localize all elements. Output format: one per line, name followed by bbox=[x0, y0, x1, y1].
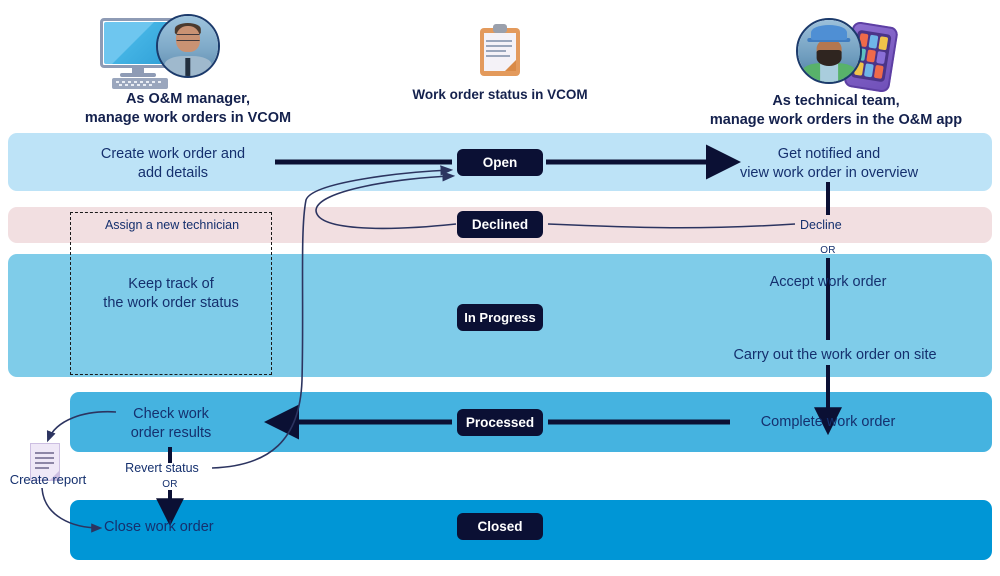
status-badge-in-progress[interactable]: In Progress bbox=[457, 304, 543, 331]
label-decline: Decline bbox=[800, 217, 900, 233]
step-accept-work-order: Accept work order bbox=[728, 273, 928, 292]
step-keep-track: Keep track of the work order status bbox=[68, 275, 274, 313]
step-complete-work-order: Complete work order bbox=[728, 413, 928, 432]
step-assign-technician: Assign a new technician bbox=[74, 217, 270, 233]
status-badge-declined-label: Declined bbox=[472, 217, 528, 232]
step-create-work-order: Create work order and add details bbox=[68, 145, 278, 183]
technician-photo-avatar bbox=[796, 18, 862, 84]
status-badge-processed-label: Processed bbox=[466, 415, 534, 430]
label-decline-or: OR bbox=[806, 244, 850, 257]
status-badge-declined[interactable]: Declined bbox=[457, 211, 543, 238]
step-check-results: Check work order results bbox=[96, 405, 246, 443]
status-badge-closed[interactable]: Closed bbox=[457, 513, 543, 540]
step-carry-out: Carry out the work order on site bbox=[700, 346, 970, 365]
status-badge-processed[interactable]: Processed bbox=[457, 409, 543, 436]
status-badge-open-label: Open bbox=[483, 155, 518, 170]
label-revert-status: Revert status bbox=[108, 460, 216, 476]
workflow-diagram: As O&M manager, manage work orders in VC… bbox=[0, 0, 1000, 576]
status-badge-open[interactable]: Open bbox=[457, 149, 543, 176]
step-close-work-order: Close work order bbox=[104, 518, 294, 537]
status-badge-in-progress-label: In Progress bbox=[464, 310, 536, 325]
label-create-report: Create report bbox=[0, 472, 96, 489]
status-badge-closed-label: Closed bbox=[477, 519, 522, 534]
label-revert-or: OR bbox=[148, 478, 192, 491]
step-get-notified: Get notified and view work order in over… bbox=[700, 145, 958, 183]
